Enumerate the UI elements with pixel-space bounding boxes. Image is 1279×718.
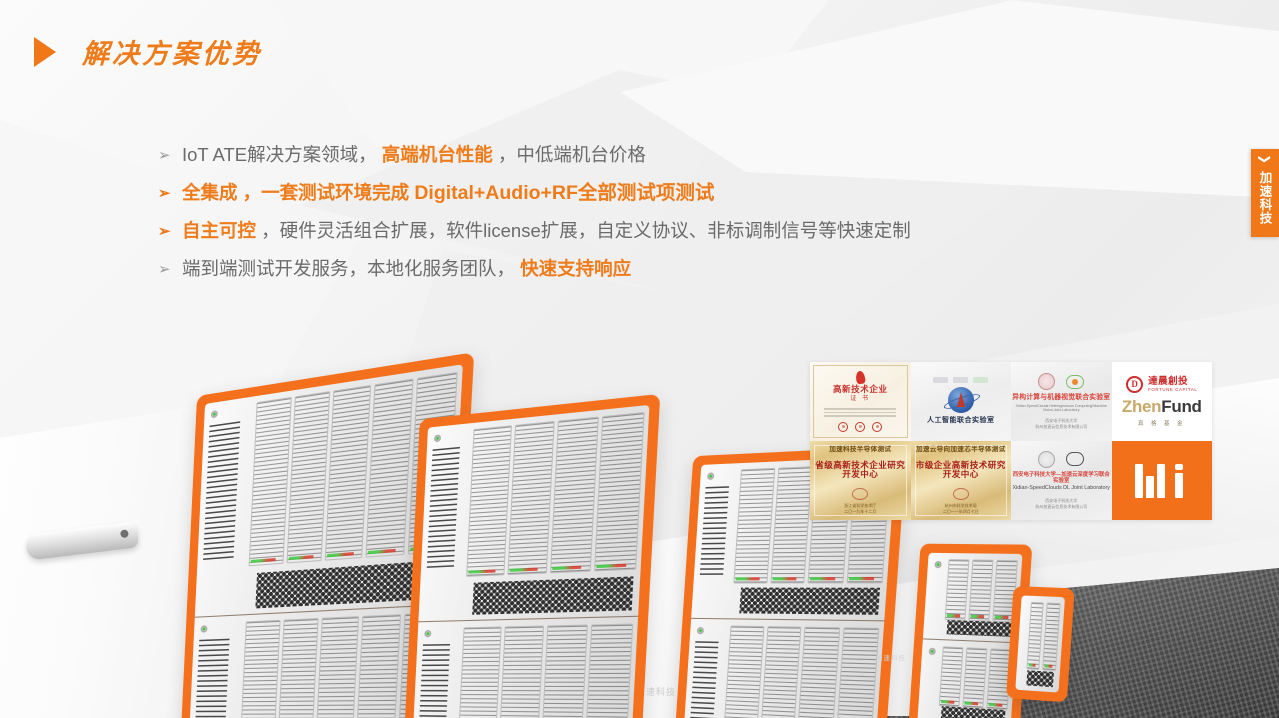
instrument-card [1042, 603, 1060, 672]
plaque-subtitle: 省级高新技术企业研究开发中心 [814, 461, 907, 481]
card-slots [1026, 602, 1061, 672]
status-led-icon [934, 561, 941, 568]
official-seal-icon [953, 488, 969, 500]
chevron-bullet-icon: ➢ [158, 148, 182, 163]
status-led-icon [211, 410, 218, 418]
list-item-text: 端到端测试开发服务，本地化服务团队， 快速支持响应 [182, 260, 631, 279]
instrument-card [497, 625, 544, 718]
instrument-card [938, 646, 963, 708]
instrument-card [835, 627, 880, 718]
instrument-card [314, 616, 360, 718]
instrument-card [354, 614, 402, 718]
instrument-card [366, 378, 414, 557]
instrument-card [275, 617, 319, 718]
list-item: ➢ 全集成 ，一套测试环境完成 Digital+Audio+RF全部测试项测试 [158, 184, 1158, 222]
brand-side-tab[interactable]: ❯ 加速科技 [1251, 149, 1279, 237]
zhenfund-word-zhen: Zhen [1122, 397, 1161, 416]
list-item-text: 全集成 ，一套测试环境完成 Digital+Audio+RF全部测试项测试 [182, 184, 714, 204]
certificate-high-tech-enterprise[interactable]: 高新技术企业 证 书 [810, 362, 911, 441]
ventilation-grille [739, 588, 880, 614]
page-title: 解决方案优势 [82, 32, 262, 71]
certificate-title: 西安电子科技大学—加速云深度学习联合实验室 [1011, 472, 1112, 484]
ribbon-cable-graphic [193, 638, 229, 718]
investor-logos[interactable]: 達晨創投 FORTUNE CAPITAL ZhenFund 真 格 基 金 [1112, 362, 1213, 441]
list-item-text: IoT ATE解决方案领域， 高端机台性能 ，中低端机台价格 [182, 146, 646, 165]
investor-name-cn: 達晨創投 [1148, 377, 1197, 388]
list-item: ➢ 自主可控 ，硬件灵活组合扩展，软件license扩展，自定义协议、非标调制信… [158, 222, 1158, 260]
text-segment-highlight: 全集成 [182, 182, 238, 203]
instrument-card [583, 623, 633, 718]
footer-line: 二〇一九年十二月 [844, 509, 876, 515]
company-logo-icon: ❯ [1259, 154, 1271, 164]
ribbon-cable-graphic [203, 421, 240, 561]
status-led-icon [929, 647, 936, 654]
certificate-subtitle: Xidian-SpeedClouds DL Joint Laboratory [1013, 485, 1111, 491]
fortune-capital-logo: 達晨創投 FORTUNE CAPITAL [1126, 376, 1197, 393]
text-line [824, 415, 896, 417]
globe-atom-icon [948, 387, 974, 413]
zhenfund-word-fund: Fund [1161, 397, 1201, 416]
status-led-icon [707, 472, 714, 479]
test-machine-2 [400, 394, 660, 718]
certificate-xidian-dl-lab[interactable]: 西安电子科技大学—加速云深度学习联合实验室 Xidian-SpeedClouds… [1011, 441, 1112, 520]
instrument-card [594, 412, 645, 571]
ribbon-cable-graphic [689, 641, 719, 718]
official-seal-icon [855, 422, 865, 432]
test-machine-5 [1006, 586, 1075, 702]
text-line [824, 412, 896, 414]
instrument-card [1026, 602, 1044, 671]
certificate-text-lines [824, 406, 896, 419]
card-slots [944, 559, 1018, 622]
text-segment-highlight: 高端机台性能 [382, 144, 493, 165]
certificate-title: 异构计算与机器视觉联合实验室 [1012, 394, 1110, 402]
lab-logo-row [1038, 373, 1084, 390]
instrument-card [759, 626, 801, 718]
ventilation-grille [1027, 670, 1054, 687]
card-slots [723, 625, 879, 718]
ventilation-grille [947, 620, 1012, 636]
instrument-card [734, 468, 775, 584]
text-segment-highlight: 快速支持响应 [520, 258, 631, 279]
text-segment: IoT ATE解决方案领域， [182, 144, 377, 165]
university-emblem-icon [1038, 373, 1055, 390]
partner-logo-icon [973, 377, 988, 383]
lab-logo-row [1038, 451, 1084, 468]
footer-line: 杭州加速云信息技术有限公司 [1035, 424, 1087, 430]
certificate-subtitle: Xidian-SpeedClouds Heterogeneous Computi… [1011, 404, 1112, 412]
text-segment: 端到端测试开发服务，本地化服务团队， [182, 258, 515, 279]
ventilation-grille [472, 576, 633, 614]
official-seal-icon [838, 422, 848, 432]
status-led-icon [697, 627, 704, 634]
text-segment-highlight: Digital+Audio+RF全部测试项测试 [414, 182, 714, 204]
card-slots [466, 412, 645, 576]
plaque-footer: 杭州市科学技术局 二〇一一年四月七日 [943, 503, 979, 515]
certificate-title: 高新技术企业 [833, 385, 888, 395]
plaque-footer: 浙江省科学技术厅 二〇一九年十二月 [844, 503, 876, 515]
ribbon-cable-graphic [417, 643, 450, 718]
instrument-card [797, 626, 840, 718]
card-slots [938, 646, 1011, 711]
partner-logo-xiaomi[interactable] [1112, 441, 1213, 520]
list-item: ➢ IoT ATE解决方案领域， 高端机台性能 ，中低端机台价格 [158, 146, 1158, 184]
panel-slot-group [1015, 595, 1065, 692]
official-seal-icon [852, 488, 868, 500]
equipment-brand-text-small: 加速科技 [876, 652, 906, 662]
instrument-card [248, 397, 291, 566]
instrument-card [325, 385, 371, 560]
plaque-title: 加速科技半导体测试 [829, 446, 891, 454]
panel-slot-group [418, 405, 649, 622]
cloud-icon [1066, 375, 1084, 389]
ribbon-cable-graphic [700, 486, 730, 578]
text-line [824, 408, 896, 410]
text-segment: ，一套测试环境完成 [243, 182, 415, 203]
brand-name-label: 加速科技 [1256, 171, 1275, 225]
instrument-card [968, 559, 993, 621]
zhenfund-logo: ZhenFund [1122, 397, 1202, 417]
footer-line: 浙江省科学技术厅 [844, 503, 876, 509]
status-led-icon [434, 434, 441, 442]
instrument-card [507, 421, 554, 575]
slide-header: 解决方案优势 [34, 32, 262, 71]
instrument-card [723, 625, 764, 718]
machine-front-panel [409, 405, 650, 718]
ribbon-cable-graphic [427, 447, 460, 571]
xiaomi-mi-logo-icon [1135, 464, 1189, 498]
text-segment-highlight: 自主可控 [182, 220, 256, 241]
instrument-card [466, 425, 512, 576]
certificate-heterogeneous-lab[interactable]: 异构计算与机器视觉联合实验室 Xidian-SpeedClouds Hetero… [1011, 362, 1112, 441]
status-led-icon [424, 630, 431, 637]
cloud-icon [1066, 452, 1084, 466]
advantages-list: ➢ IoT ATE解决方案领域， 高端机台性能 ，中低端机台价格 ➢ 全集成 ，… [158, 146, 1158, 298]
machine-front-panel [1015, 595, 1065, 692]
investor-name-en: FORTUNE CAPITAL [1148, 387, 1197, 392]
partner-logo-icon [933, 377, 948, 383]
chevron-bullet-icon: ➢ [158, 224, 182, 239]
plaque-provincial-rd-center[interactable]: 加速科技半导体测试 省级高新技术企业研究开发中心 浙江省科学技术厅 二〇一九年十… [810, 441, 911, 520]
official-seal-icon [872, 422, 882, 432]
footer-line: 杭州加速云信息技术有限公司 [1035, 504, 1087, 510]
instrument-card [456, 626, 502, 718]
certificate-subtitle: 证 书 [850, 396, 870, 403]
instrument-card [550, 417, 599, 573]
instrument-card [962, 647, 987, 709]
status-led-icon [201, 625, 208, 632]
certificate-title: 人工智能联合实验室 [927, 417, 995, 425]
instrument-card [539, 624, 588, 718]
certificate-gallery: 高新技术企业 证 书 人工智能联合实验室 [810, 362, 1212, 520]
university-emblem-icon [1038, 451, 1055, 468]
partner-logo-row [933, 377, 988, 383]
plaque-title: 加速云导向加速芯半导体测试 [916, 446, 1006, 454]
certificate-footer: 西安电子科技大学 杭州加速云信息技术有限公司 [1035, 498, 1087, 510]
panel-slot-group [917, 639, 1016, 718]
slide-canvas: 解决方案优势 ➢ IoT ATE解决方案领域， 高端机台性能 ，中低端机台价格 … [0, 0, 1279, 718]
text-segment: ，中低端机台价格 [498, 144, 646, 165]
certificate-ai-joint-lab[interactable]: 人工智能联合实验室 [911, 362, 1012, 441]
instrument-card [944, 559, 969, 620]
equipment-brand-text: 速科技 [646, 685, 676, 698]
plaque-municipal-rd-center[interactable]: 加速云导向加速芯半导体测试 市级企业高新技术研究开发中心 杭州市科学技术局 二〇… [911, 441, 1012, 520]
panel-slot-group [923, 553, 1023, 643]
footer-line: 二〇一一年四月七日 [943, 509, 979, 515]
triangle-bullet-icon [34, 37, 56, 67]
footer-line: 杭州市科学技术局 [943, 503, 979, 509]
partner-logo-icon [953, 377, 968, 383]
instrument-card [238, 619, 281, 718]
panel-slot-group [409, 616, 638, 718]
list-item-text: 自主可控 ，硬件灵活组合扩展，软件license扩展，自定义协议、非标调制信号等… [182, 222, 911, 241]
certificate-footer: 西安电子科技大学 杭州加速云信息技术有限公司 [1035, 418, 1087, 430]
card-slots [456, 623, 633, 718]
certificate-seals [838, 422, 882, 432]
chevron-bullet-icon: ➢ [158, 186, 182, 201]
chevron-bullet-icon: ➢ [158, 262, 182, 277]
panel-slot-group [681, 618, 884, 718]
instrument-card [286, 391, 331, 563]
flame-emblem-icon [855, 371, 866, 385]
zhenfund-name-cn: 真 格 基 金 [1138, 421, 1186, 427]
list-item: ➢ 端到端测试开发服务，本地化服务团队， 快速支持响应 [158, 260, 1158, 298]
fortune-capital-mark-icon [1126, 376, 1143, 393]
text-segment: ，硬件灵活组合扩展，软件license扩展，自定义协议、非标调制信号等快速定制 [261, 220, 911, 241]
instrument-card [770, 466, 812, 584]
plaque-subtitle: 市级企业高新技术研究开发中心 [915, 461, 1008, 481]
